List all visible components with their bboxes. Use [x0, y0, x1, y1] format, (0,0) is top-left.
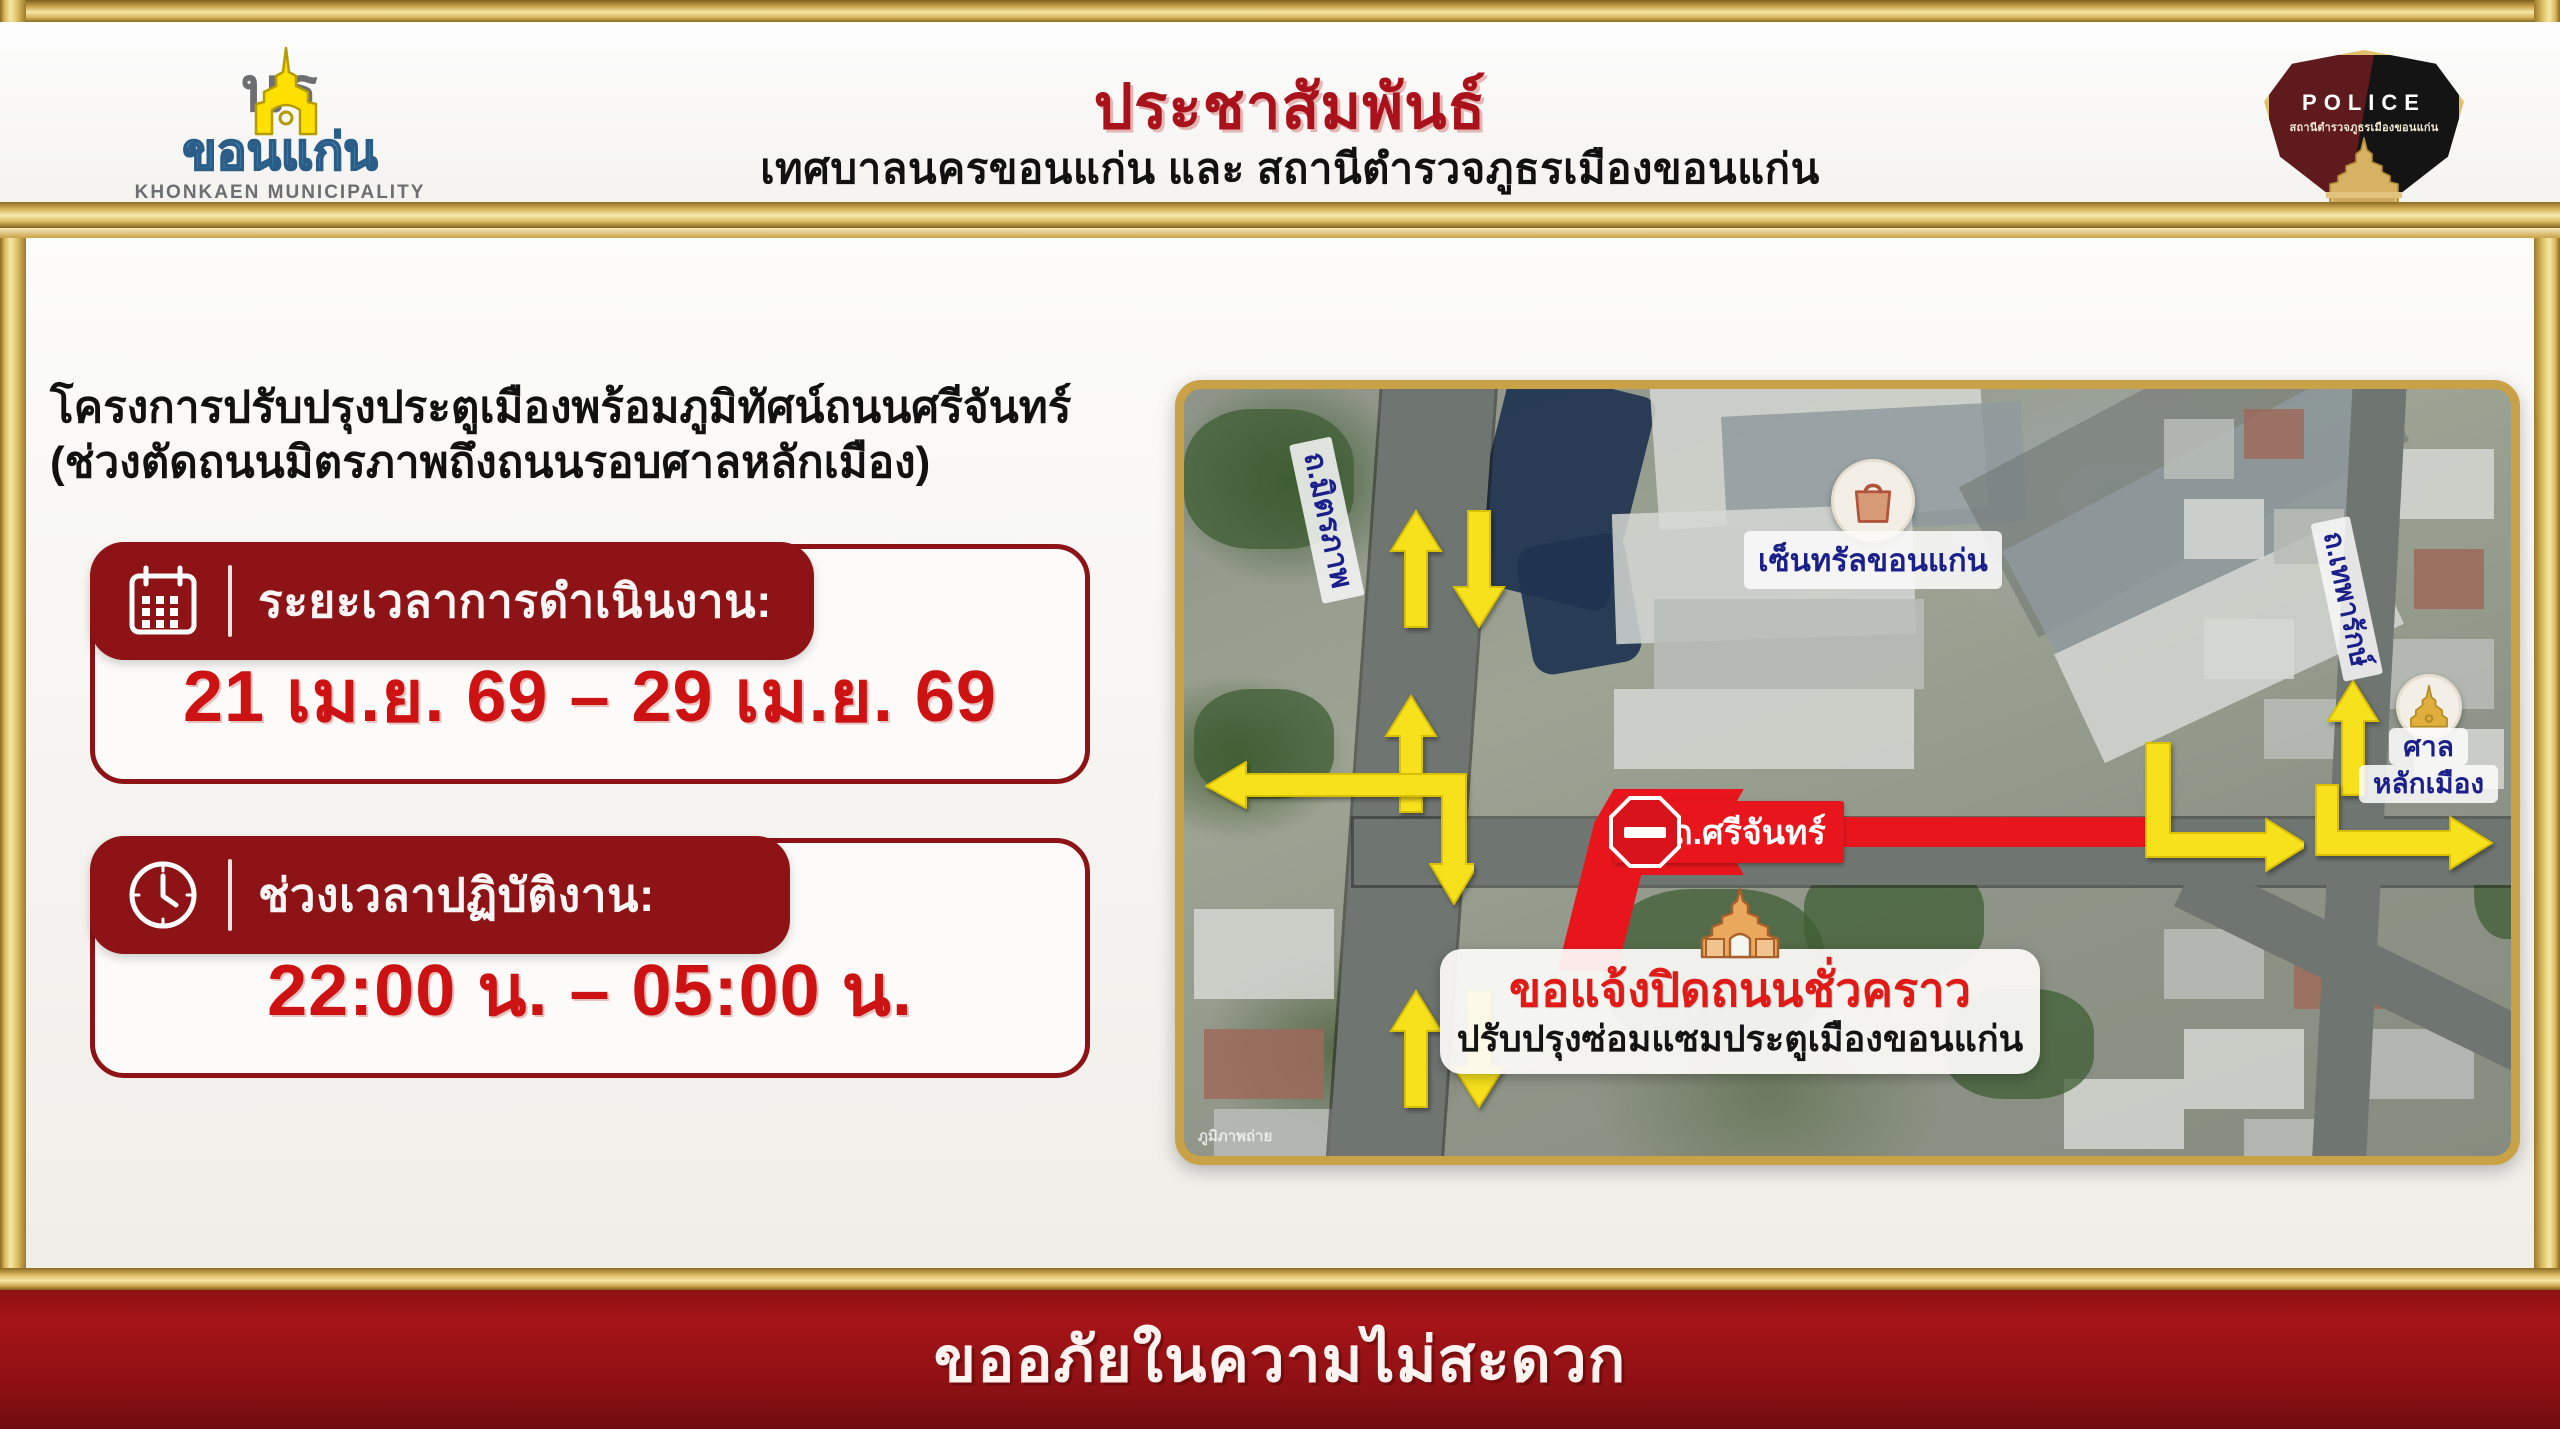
working-hours-card: 22:00 น. – 05:00 น. ช่วงเวลาปฏิบัติงาน:	[90, 838, 1090, 1078]
arrow-right-detour	[2144, 741, 2304, 881]
footer-apology-text: ขออภัยในความไม่สะดวก	[934, 1311, 1627, 1409]
header-text-group: ประชาสัมพันธ์ เทศบาลนครขอนแก่น และ สถานี…	[440, 44, 2140, 224]
clock-icon	[124, 856, 202, 934]
duration-card-header: ระยะเวลาการดำเนินงาน:	[90, 542, 814, 660]
page-subtitle: เทศบาลนครขอนแก่น และ สถานีตำรวจภูธรเมือง…	[760, 146, 1820, 192]
logo-english-subtitle: KHONKAEN MUNICIPALITY	[120, 182, 440, 204]
page-title: ประชาสัมพันธ์	[1094, 75, 1487, 140]
callout-subtitle: ปรับปรุงซ่อมแซมประตูเมืองขอนแก่น	[1450, 1018, 2030, 1059]
arrow-left-detour	[1204, 744, 1474, 914]
duration-card: 21 เม.ย. 69 – 29 เม.ย. 69	[90, 544, 1090, 784]
header-gold-divider	[0, 202, 2560, 228]
arrow-down-north	[1452, 509, 1506, 629]
working-hours-label: ช่วงเวลาปฏิบัติงาน:	[258, 859, 655, 932]
police-badge: POLICE สถานีตำรวจภูธรเมืองขอนแก่น	[2264, 50, 2464, 222]
srichan-street-band: ถ.ศรีจันทร์	[1614, 809, 1844, 855]
poi-city-pillar-shrine[interactable]: ศาล หลักเมือง	[2359, 674, 2498, 803]
project-title-line1: โครงการปรับปรุงประตูเมืองพร้อมภูมิทัศน์ถ…	[30, 380, 1130, 435]
working-hours-card-header: ช่วงเวลาปฏิบัติงาน:	[90, 836, 790, 954]
poi-central-khonkaen-label: เซ็นทรัลขอนแก่น	[1744, 531, 2002, 589]
header-gold-divider-thin	[0, 228, 2560, 238]
map-watermark: ภูมิภาพถ่าย	[1198, 1124, 1272, 1148]
header: นร ขอนแก่น KHONKAEN MUNICIPALITY ประชาสั…	[0, 22, 2560, 202]
footer-banner: ขออภัยในความไม่สะดวก	[0, 1290, 2560, 1429]
badge-station-name: สถานีตำรวจภูธรเมืองขอนแก่น	[2264, 118, 2464, 136]
poster-root: นร ขอนแก่น KHONKAEN MUNICIPALITY ประชาสั…	[0, 0, 2560, 1429]
no-entry-icon	[1608, 795, 1682, 869]
khonkaen-municipality-logo: นร ขอนแก่น KHONKAEN MUNICIPALITY	[120, 50, 440, 210]
calendar-icon	[124, 562, 202, 640]
road-closure-callout: ขอแจ้งปิดถนนชั่วคราว ปรับปรุงซ่อมแซมประต…	[1440, 949, 2040, 1074]
duration-label: ระยะเวลาการดำเนินงาน:	[258, 565, 772, 638]
card-separator	[228, 565, 232, 637]
logo-word-khonkaen: ขอนแก่น	[120, 124, 440, 180]
callout-title: ขอแจ้งปิดถนนชั่วคราว	[1450, 965, 2030, 1014]
project-title-line2: (ช่วงตัดถนนมิตรภาพถึงถนนรอบศาลหลักเมือง)	[30, 435, 1130, 490]
left-content-column: โครงการปรับปรุงประตูเมืองพร้อมภูมิทัศน์ถ…	[30, 380, 1130, 1078]
poi-shrine-label-line2: หลักเมือง	[2359, 765, 2498, 802]
badge-police-label: POLICE	[2264, 90, 2464, 116]
card-separator	[228, 859, 232, 931]
arrow-up-south	[1389, 989, 1443, 1109]
map-panel[interactable]: ภูมิภาพถ่าย	[1175, 380, 2520, 1165]
poi-central-khonkaen[interactable]: เซ็นทรัลขอนแก่น	[1744, 459, 2002, 589]
temple-gate-icon	[2318, 136, 2410, 206]
poi-shrine-label-line1: ศาล	[2389, 728, 2468, 765]
arrow-up-north	[1389, 509, 1443, 629]
footer-gold-divider	[0, 1268, 2560, 1290]
city-gate-icon	[1692, 887, 1788, 959]
gold-top-border	[0, 0, 2560, 22]
